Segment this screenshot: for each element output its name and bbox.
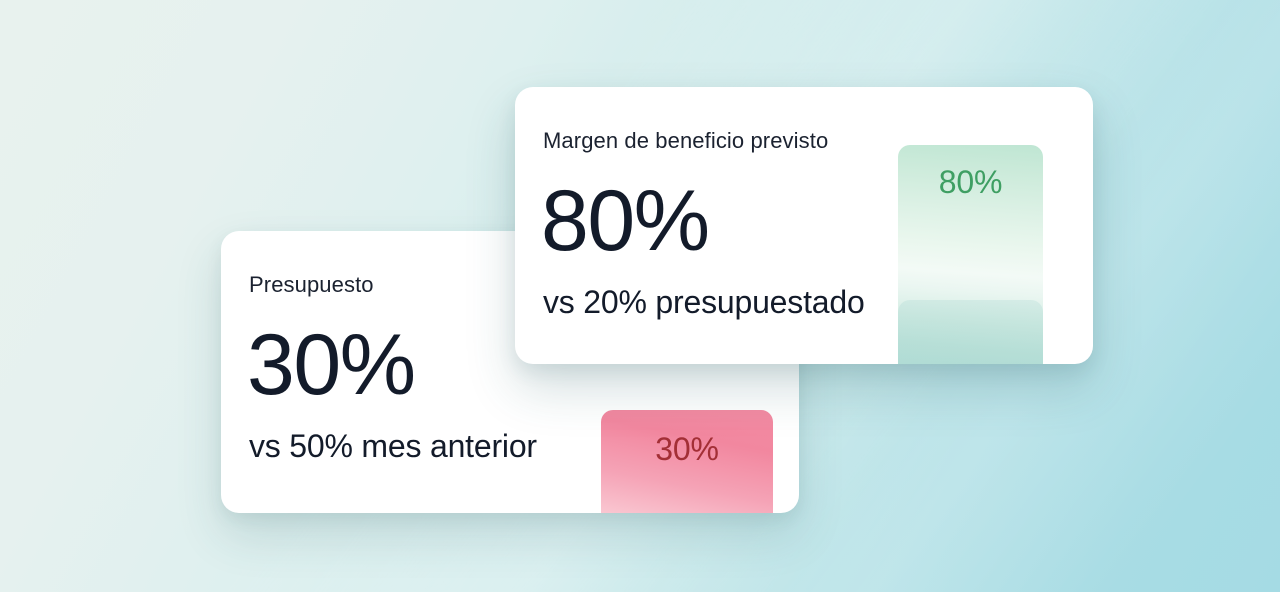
kpi-comparison-presupuesto: vs 50% mes anterior (249, 427, 537, 465)
kpi-label-margen-beneficio: Margen de beneficio previsto (543, 128, 828, 154)
kpi-label-presupuesto: Presupuesto (249, 272, 374, 298)
kpi-value-presupuesto: 30% (247, 319, 415, 411)
kpi-card-margen-beneficio[interactable]: 80% Margen de beneficio previsto 80% vs … (515, 87, 1093, 364)
kpi-bar-margen-beneficio: 80% (898, 145, 1043, 364)
kpi-card-canvas: 30% Presupuesto 30% vs 50% mes anterior … (0, 0, 1280, 592)
kpi-value-margen-beneficio: 80% (541, 175, 709, 267)
kpi-bar-value-presupuesto: 30% (601, 430, 773, 468)
kpi-comparison-margen-beneficio: vs 20% presupuestado (543, 283, 865, 321)
kpi-bar-presupuesto: 30% (601, 410, 773, 513)
kpi-card-body: 80% Margen de beneficio previsto 80% vs … (515, 87, 1093, 364)
kpi-bar-value-margen-beneficio: 80% (898, 163, 1043, 201)
